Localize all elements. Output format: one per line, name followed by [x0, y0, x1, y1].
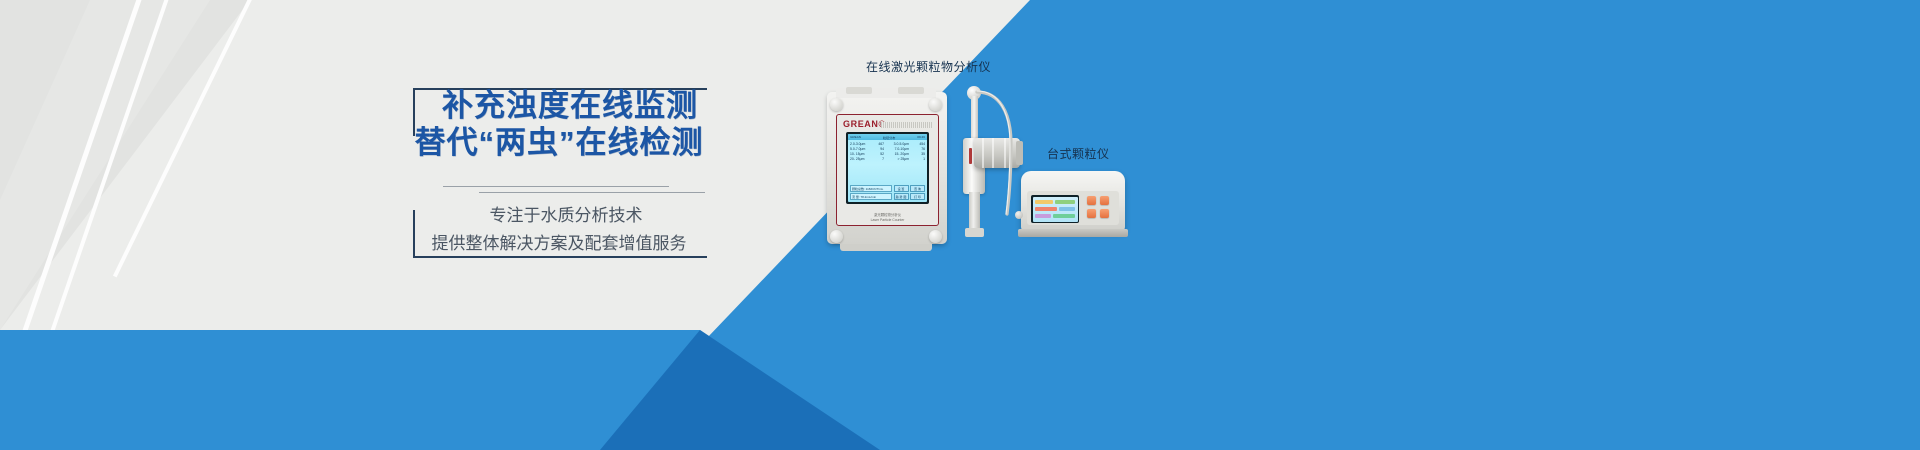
cell-count-a: 7 [871, 157, 885, 162]
lcd-print-button[interactable]: 打 印 [910, 193, 925, 200]
barrel-end-cap [1016, 141, 1023, 165]
benchtop-key[interactable] [1100, 209, 1109, 218]
subtitle-line-2: 提供整体解决方案及配套增值服务 [413, 230, 705, 258]
subtitle-line-1: 专注于水质分析技术 [427, 202, 705, 230]
sensor-stem [971, 96, 978, 140]
headline-line-2: 替代“两虫”在线检测 [413, 125, 705, 162]
sensor-foot [965, 228, 984, 237]
lcd-data-table: 2.0-3.0μm 467 3.0-5.0μm 454 5.0-7.0μm 94… [848, 140, 927, 163]
benchtop-menu-tile[interactable] [1035, 207, 1057, 212]
lcd-total-count: 颗粒总数: 1166CNT/mL [850, 185, 892, 192]
headline-line-1: 补充浊度在线监测 [435, 88, 705, 125]
sensor-indicator [969, 148, 972, 164]
headline-panel: 补充浊度在线监测 替代“两虫”在线检测 专注于水质分析技术 提供整体解决方案及配… [413, 88, 705, 256]
analyzer-lcd-screen: GREAN 粒径分布 09:46 2.0-3.0μm 467 3.0-5.0μm… [848, 134, 927, 202]
lcd-title-left: GREAN [850, 135, 861, 139]
benchtop-menu-tile[interactable] [1053, 214, 1075, 219]
analyzer-lcd: GREAN 粒径分布 09:46 2.0-3.0μm 467 3.0-5.0μm… [846, 132, 929, 204]
screw-knob-icon [830, 98, 843, 111]
lcd-footer: 颗粒总数: 1166CNT/mL 设 置 查 询 流 量: 78.2mL/min… [850, 184, 925, 200]
lcd-trend-button[interactable]: 趋 势 图 [894, 193, 909, 200]
benchtop-menu-tile[interactable] [1035, 214, 1051, 219]
analyzer-model-text: 激光颗粒物分析仪 Laser Particle Counter [837, 213, 938, 222]
promo-banner: 补充浊度在线监测 替代“两虫”在线检测 专注于水质分析技术 提供整体解决方案及配… [0, 0, 1920, 450]
lcd-settings-button[interactable]: 设 置 [894, 185, 909, 192]
benchtop-menu-tile[interactable] [1055, 200, 1075, 205]
subtitle-block: 专注于水质分析技术 提供整体解决方案及配套增值服务 [413, 202, 705, 258]
photometer-barrel [974, 138, 1020, 168]
online-laser-particle-analyzer: GREAN® GREAN 粒径分布 09:46 2.0-3.0μm 467 3.… [822, 84, 952, 254]
table-row: 20- 25μm 7 > 25μm 1 [850, 157, 925, 162]
benchtop-base [1018, 229, 1128, 237]
cell-range-b: > 25μm [887, 157, 910, 162]
cell-range-a: 20- 25μm [850, 157, 868, 162]
benchtop-menu-tile[interactable] [1059, 207, 1075, 212]
lcd-footer-row-2: 流 量: 78.2mL/min 趋 势 图 打 印 [850, 193, 925, 200]
benchtop-key[interactable] [1087, 196, 1096, 205]
lcd-title-right: 09:46 [917, 135, 925, 139]
lcd-query-button[interactable]: 查 询 [910, 185, 925, 192]
benchtop-particle-counter [1021, 165, 1131, 245]
benchtop-inlet-port [1015, 211, 1023, 219]
benchtop-screen-inner [1033, 197, 1078, 222]
benchtop-menu-tile[interactable] [1035, 200, 1053, 205]
benchtop-keypad [1087, 196, 1113, 220]
divider-rules [443, 186, 705, 198]
barrel-rib [1004, 138, 1006, 168]
vent-grille-icon [881, 122, 933, 128]
screw-knob-icon [929, 98, 942, 111]
lcd-footer-row-1: 颗粒总数: 1166CNT/mL 设 置 查 询 [850, 185, 925, 192]
divider-rule-upper [443, 186, 669, 187]
analyzer-base-bar [840, 244, 932, 251]
lcd-flow-rate: 流 量: 78.2mL/min [850, 193, 892, 200]
analyzer-front-panel: GREAN® GREAN 粒径分布 09:46 2.0-3.0μm 467 3.… [836, 114, 939, 226]
sensor-lower-stem [969, 192, 980, 230]
screw-knob-icon [929, 230, 942, 243]
analyzer-top-notch-right [898, 87, 924, 94]
screw-knob-icon [830, 230, 843, 243]
cell-count-b: 1 [912, 157, 926, 162]
barrel-rib [982, 138, 984, 168]
benchtop-key[interactable] [1087, 209, 1096, 218]
analyzer-model-en: Laser Particle Counter [837, 218, 938, 222]
brand-logo: GREAN® [843, 119, 886, 129]
headline: 补充浊度在线监测 替代“两虫”在线检测 [413, 88, 705, 161]
benchtop-screen [1031, 195, 1079, 223]
flow-cell-icon [956, 86, 996, 266]
benchtop-key[interactable] [1100, 196, 1109, 205]
divider-rule-lower [479, 192, 705, 193]
barrel-rib [992, 138, 994, 168]
lcd-title-center: 粒径分布 [883, 135, 895, 140]
analyzer-top-notch-left [846, 87, 872, 94]
